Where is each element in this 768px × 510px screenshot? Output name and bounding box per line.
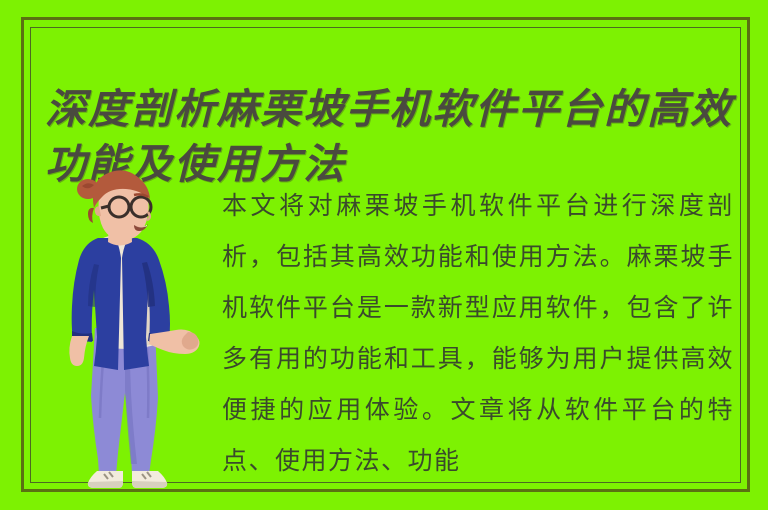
jacket-right <box>122 238 170 370</box>
shoe-right-sole <box>132 481 167 488</box>
glasses-temple <box>101 206 109 208</box>
poster-root: 深度剖析麻栗坡手机软件平台的高效功能及使用方法 <box>0 0 768 510</box>
shoe-left-sole <box>88 481 123 488</box>
hair-sideburn <box>88 208 94 223</box>
person-presenting-illustration <box>52 168 220 493</box>
hand-left <box>69 336 89 366</box>
illustration-svg <box>52 168 220 493</box>
hair-bun <box>77 179 99 199</box>
article-body: 本文将对麻栗坡手机软件平台进行深度剖析，包括其高效功能和使用方法。麻栗坡手机软件… <box>222 180 734 480</box>
